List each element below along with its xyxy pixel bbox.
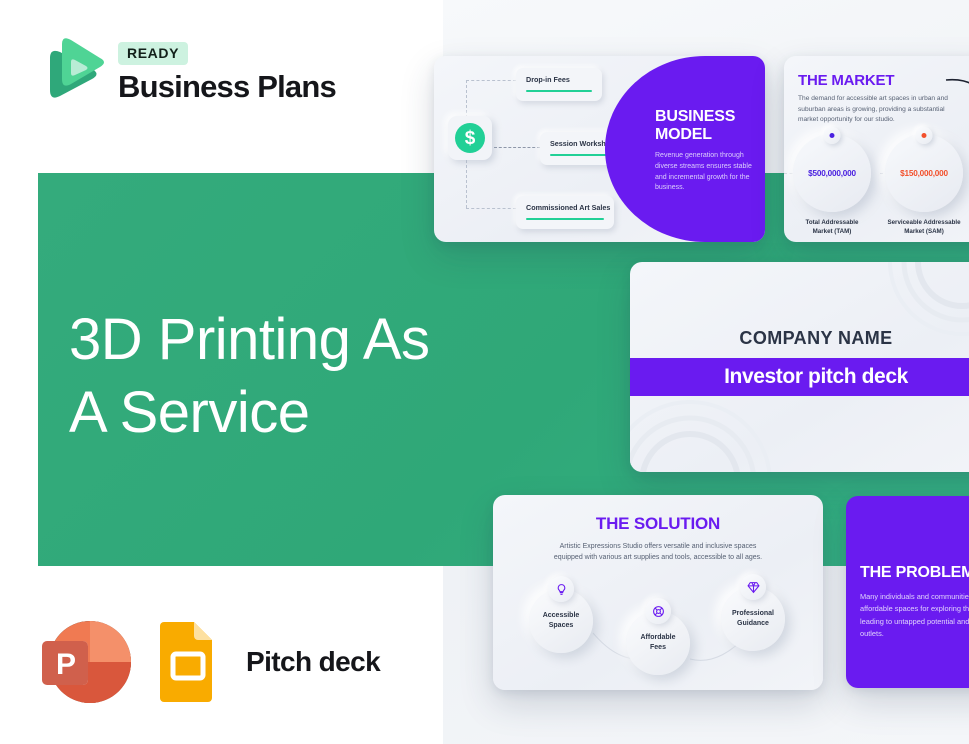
solution-description: Artistic Expressions Studio offers versa… bbox=[551, 541, 765, 564]
slide-the-problem[interactable]: THE PROBLEM Many individuals and communi… bbox=[846, 496, 969, 688]
diamond-icon bbox=[740, 574, 766, 600]
solution-title: THE SOLUTION bbox=[493, 514, 823, 534]
metric-dot-icon bbox=[916, 127, 933, 144]
market-metric-value: $150,000,000 bbox=[900, 169, 948, 178]
brand-text: READY Business Plans bbox=[118, 42, 336, 105]
powerpoint-icon[interactable]: P bbox=[40, 618, 134, 706]
ready-badge: READY bbox=[118, 42, 188, 65]
solution-node-label: Affordable Fees bbox=[641, 633, 676, 653]
page-stage: READY Business Plans 3D Printing As A Se… bbox=[0, 0, 969, 744]
brand-name: Business Plans bbox=[118, 69, 336, 105]
business-model-item-label: Commissioned Art Sales bbox=[526, 203, 604, 212]
metric-dot-icon bbox=[824, 127, 841, 144]
solution-node: Professional Guidance bbox=[721, 587, 785, 651]
business-model-item-label: Drop-in Fees bbox=[526, 75, 592, 84]
connector-line bbox=[494, 147, 540, 148]
business-model-description: Revenue generation through diverse strea… bbox=[655, 151, 759, 194]
connector-line bbox=[466, 80, 516, 81]
company-subtitle: Investor pitch deck bbox=[724, 365, 908, 389]
play-triangle-logo-icon bbox=[40, 36, 104, 110]
solution-node-label: Professional Guidance bbox=[732, 609, 774, 629]
underline-bar bbox=[526, 218, 604, 220]
market-metric: $150,000,000 Serviceable Addressable Mar… bbox=[884, 134, 964, 237]
curved-arrow-icon bbox=[944, 74, 969, 116]
slide-the-solution[interactable]: THE SOLUTION Artistic Expressions Studio… bbox=[493, 495, 823, 690]
business-model-item: Commissioned Art Sales bbox=[516, 196, 614, 229]
market-title: THE MARKET bbox=[798, 72, 894, 89]
lifebuoy-icon bbox=[645, 598, 671, 624]
slide-company-name[interactable]: COMPANY NAME Investor pitch deck bbox=[630, 262, 969, 472]
connector-line bbox=[466, 208, 516, 209]
format-row: P Pitch deck bbox=[40, 618, 380, 706]
market-metric-caption: Total Addressable Market (TAM) bbox=[806, 219, 859, 237]
dollar-coin-icon: $ bbox=[448, 116, 492, 160]
company-subtitle-band: Investor pitch deck bbox=[630, 358, 969, 396]
market-metric-value: $500,000,000 bbox=[808, 169, 856, 178]
market-metric: $500,000,000 Total Addressable Market (T… bbox=[792, 134, 872, 237]
solution-node-label: Accessible Spaces bbox=[543, 611, 580, 631]
solution-node: Affordable Fees bbox=[626, 611, 690, 675]
slide-business-model[interactable]: $ Drop-in Fees Session Workshops Commiss… bbox=[434, 56, 765, 242]
lightbulb-icon bbox=[548, 576, 574, 602]
solution-node: Accessible Spaces bbox=[529, 589, 593, 653]
brand-logo[interactable]: READY Business Plans bbox=[40, 36, 336, 110]
page-title: 3D Printing As A Service bbox=[69, 303, 430, 449]
company-name-title: COMPANY NAME bbox=[630, 328, 969, 349]
format-label: Pitch deck bbox=[246, 646, 380, 678]
market-description: The demand for accessible art spaces in … bbox=[798, 94, 956, 126]
business-model-title: BUSINESS MODEL bbox=[655, 108, 759, 144]
underline-bar bbox=[526, 90, 592, 92]
market-metric-caption: Serviceable Addressable Market (SAM) bbox=[887, 219, 960, 237]
google-slides-icon[interactable] bbox=[156, 618, 220, 706]
business-model-item: Drop-in Fees bbox=[516, 68, 602, 101]
problem-description: Many individuals and communities lack ac… bbox=[860, 591, 969, 640]
svg-text:P: P bbox=[56, 648, 76, 681]
slide-the-market[interactable]: THE MARKET The demand for accessible art… bbox=[784, 56, 969, 242]
problem-title: THE PROBLEM bbox=[860, 564, 969, 582]
